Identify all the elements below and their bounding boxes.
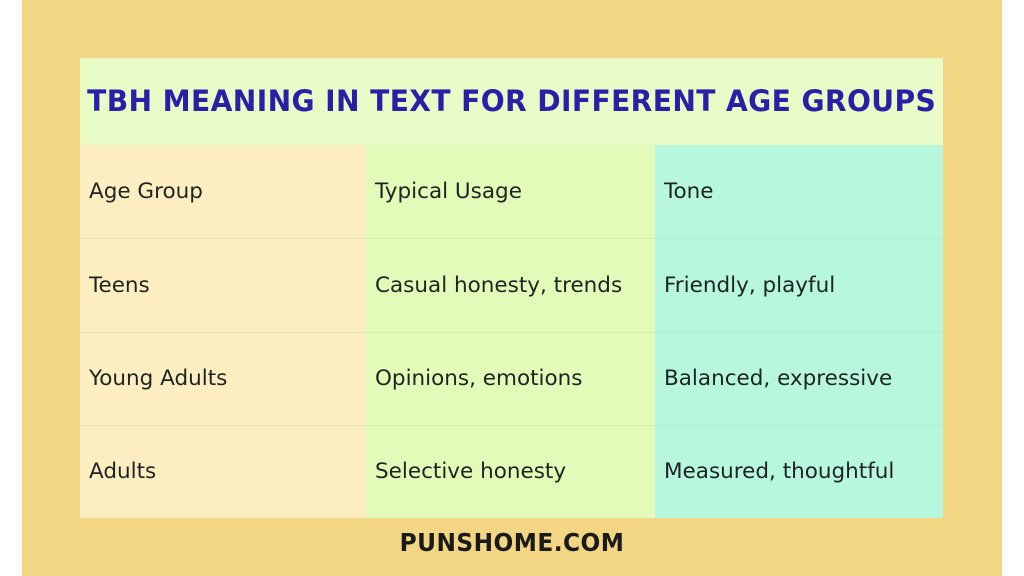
title-banner: TBH Meaning in Text for Different Age Gr… xyxy=(80,58,943,145)
table-row: Teens Casual honesty, trends Friendly, p… xyxy=(80,238,943,332)
column-header-typical-usage-label: Typical Usage xyxy=(375,178,522,206)
cell-typical-usage: Casual honesty, trends xyxy=(366,238,655,332)
cell-typical-usage: Opinions, emotions xyxy=(366,332,655,425)
age-groups-table: Age Group Typical Usage Tone Teens Casua… xyxy=(80,145,943,518)
poster-canvas: TBH Meaning in Text for Different Age Gr… xyxy=(0,0,1024,576)
column-header-tone-label: Tone xyxy=(664,178,714,206)
table-header-row: Age Group Typical Usage Tone xyxy=(80,145,943,238)
column-header-age-group: Age Group xyxy=(80,145,366,238)
cell-age-group-value: Adults xyxy=(89,458,156,486)
cell-tone-value: Balanced, expressive xyxy=(664,365,892,393)
table-row: Young Adults Opinions, emotions Balanced… xyxy=(80,332,943,425)
site-watermark: PUNSHOME.COM xyxy=(36,528,988,557)
cell-typical-usage-value: Opinions, emotions xyxy=(375,365,583,393)
cell-age-group: Teens xyxy=(80,238,366,332)
table-row: Adults Selective honesty Measured, thoug… xyxy=(80,425,943,518)
column-header-tone: Tone xyxy=(655,145,943,238)
cell-typical-usage-value: Selective honesty xyxy=(375,458,566,486)
column-header-age-group-label: Age Group xyxy=(89,178,203,206)
cell-tone: Friendly, playful xyxy=(655,238,943,332)
cell-tone-value: Measured, thoughtful xyxy=(664,458,894,486)
cell-age-group: Adults xyxy=(80,425,366,518)
cell-tone-value: Friendly, playful xyxy=(664,272,835,300)
cell-typical-usage: Selective honesty xyxy=(366,425,655,518)
cell-age-group-value: Teens xyxy=(89,272,150,300)
cell-tone: Balanced, expressive xyxy=(655,332,943,425)
cell-typical-usage-value: Casual honesty, trends xyxy=(375,272,622,300)
page-title: TBH Meaning in Text for Different Age Gr… xyxy=(87,87,936,116)
cell-age-group-value: Young Adults xyxy=(89,365,227,393)
column-header-typical-usage: Typical Usage xyxy=(366,145,655,238)
cell-tone: Measured, thoughtful xyxy=(655,425,943,518)
cell-age-group: Young Adults xyxy=(80,332,366,425)
